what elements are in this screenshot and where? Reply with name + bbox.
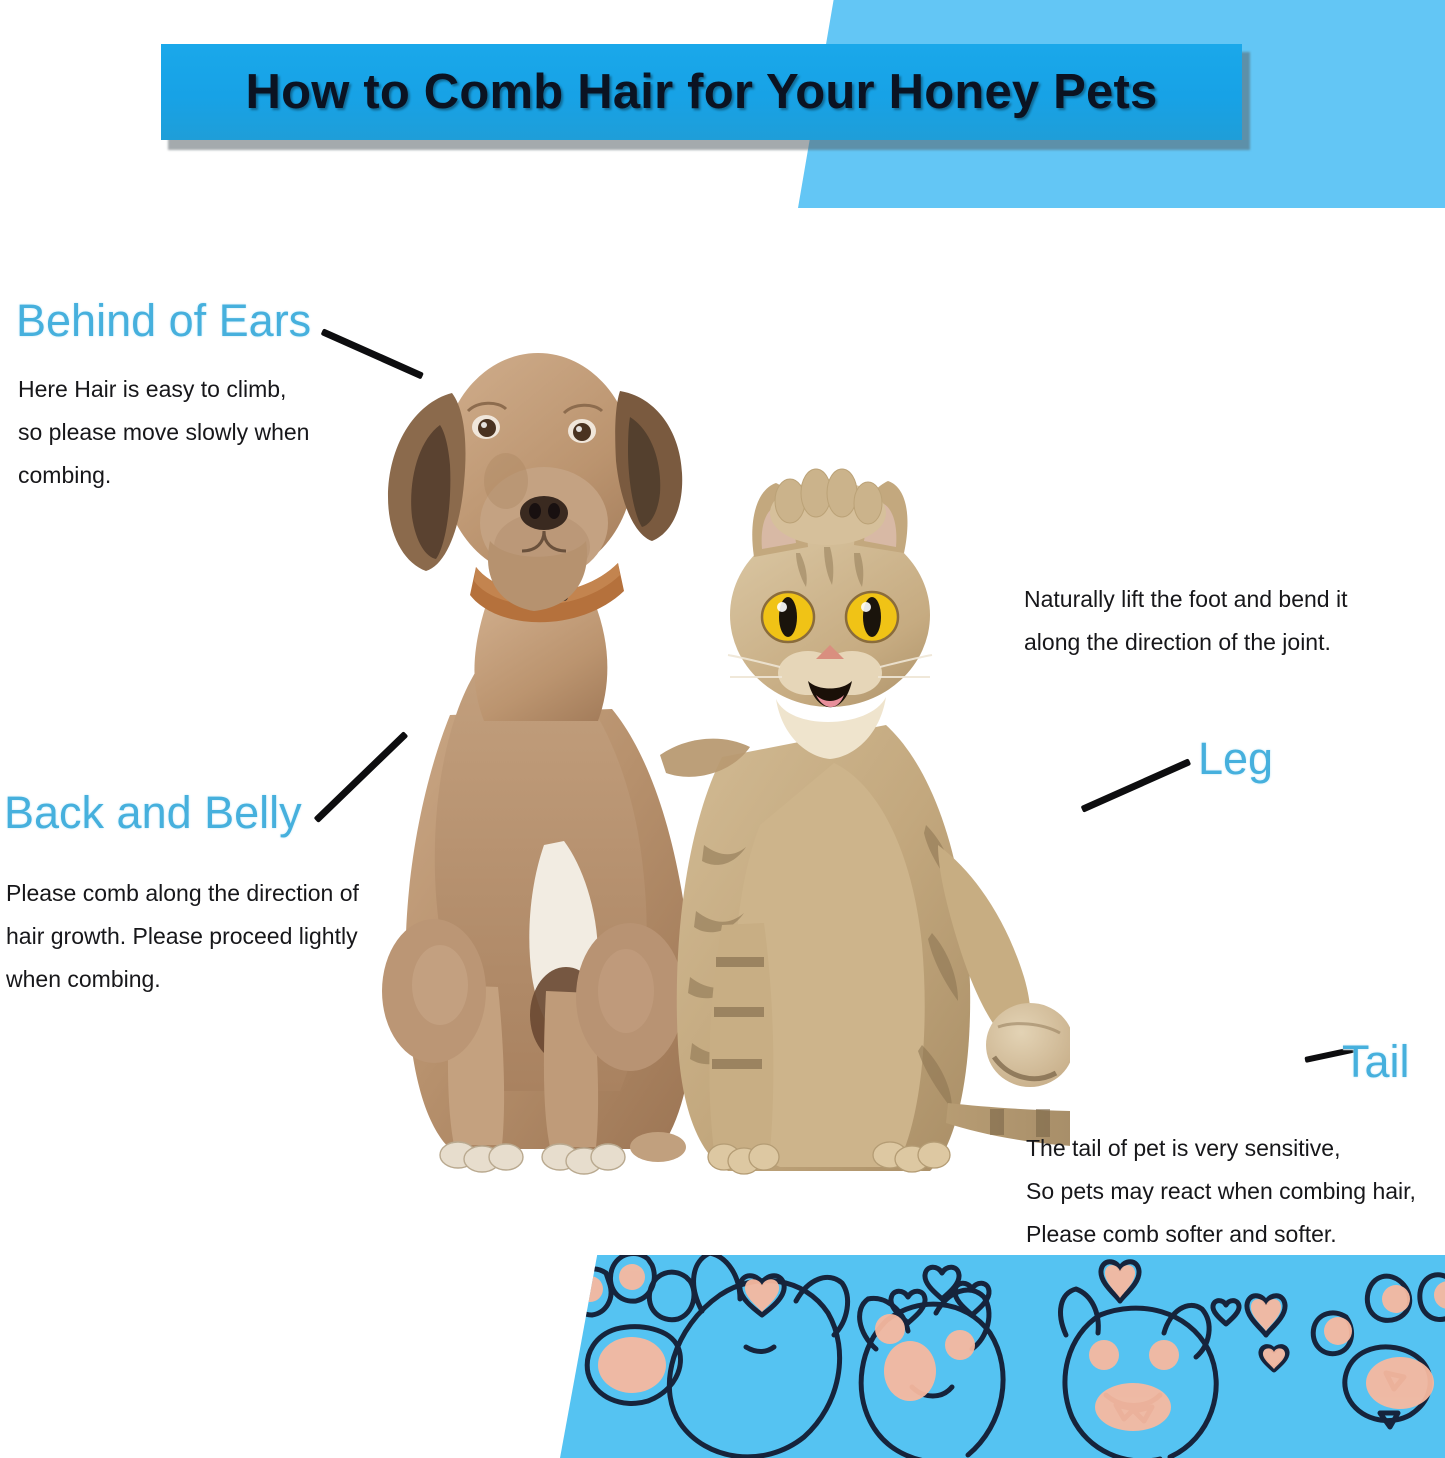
paw-icon-2 [1313,1275,1445,1427]
callout-body-tail: The tail of pet is very sensitive, So pe… [1026,1127,1416,1256]
paw-print-art [560,1255,1445,1458]
callout-title-leg: Leg [1198,733,1273,785]
callout-body-ears: Here Hair is easy to climb, so please mo… [18,368,309,497]
infographic-canvas: How to Comb Hair for Your Honey Pets [0,0,1445,1458]
pet-photo-illustration [330,285,1070,1205]
leader-line-leg [1081,758,1192,812]
callout-body-back-and-belly: Please comb along the direction of hair … [6,872,359,1001]
callout-body-foot: Naturally lift the foot and bend it alon… [1024,578,1347,664]
cat-head-icon-3 [1061,1289,1217,1458]
footer-banner [560,1255,1445,1458]
pet-photo [330,285,1070,1205]
hearts-group-1 [891,1267,989,1323]
callout-title-tail: Tail [1342,1036,1410,1088]
callout-title-back-and-belly: Back and Belly [4,787,302,839]
callout-title-ears: Behind of Ears [16,295,311,347]
page-title: How to Comb Hair for Your Honey Pets [246,68,1158,117]
title-bar: How to Comb Hair for Your Honey Pets [161,44,1242,140]
